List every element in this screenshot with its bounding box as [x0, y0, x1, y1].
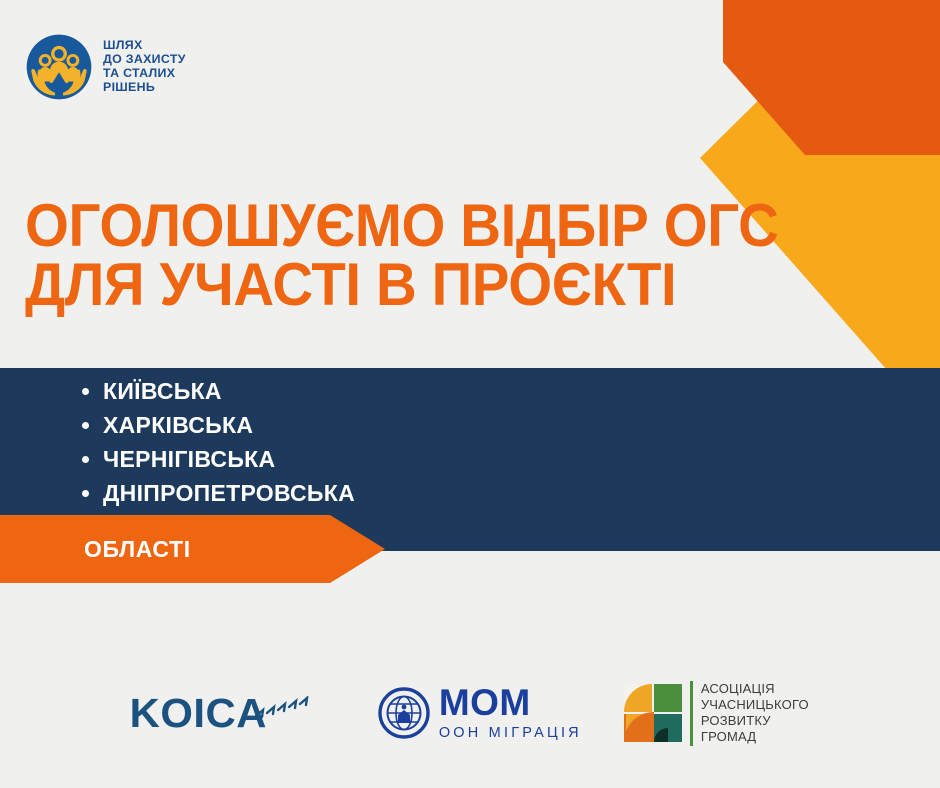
people-in-hands-icon [26, 34, 92, 100]
iom-wordmark: MOM [439, 685, 582, 720]
bullet-icon [82, 490, 89, 497]
association-quadrant-icon [624, 684, 682, 742]
brand-line-1: ШЛЯХ [103, 39, 186, 53]
iom-subtitle: ООН МІГРАЦІЯ [439, 725, 582, 741]
iom-logo: MOM ООН МІГРАЦІЯ [378, 685, 582, 740]
regions-banner-label: ОБЛАСТІ [84, 536, 191, 563]
iom-globe-icon [378, 687, 430, 739]
headline: ОГОЛОШУЄМО ВІДБІР ОГС ДЛЯ УЧАСТІ В ПРОЄК… [25, 196, 915, 315]
orange-parallelogram [723, 0, 940, 155]
regions-banner: ОБЛАСТІ [0, 515, 385, 583]
partner-logos: KOICA [0, 638, 940, 788]
list-item: ДНІПРОПЕТРОВСЬКА [0, 476, 355, 510]
region-label: ДНІПРОПЕТРОВСЬКА [103, 480, 355, 507]
association-line-2: УЧАСНИЦЬКОГО [701, 697, 809, 713]
brand-line-3: ТА СТАЛИХ [103, 67, 186, 81]
association-logo: АСОЦІАЦІЯ УЧАСНИЦЬКОГО РОЗВИТКУ ГРОМАД [624, 681, 809, 746]
region-label: ХАРКІВСЬКА [103, 412, 253, 439]
association-line-4: ГРОМАД [701, 729, 809, 745]
brand-logo: ШЛЯХ ДО ЗАХИСТУ ТА СТАЛИХ РІШЕНЬ [26, 34, 186, 100]
bullet-icon [82, 388, 89, 395]
region-label: ЧЕРНІГІВСЬКА [103, 446, 275, 473]
bullet-icon [82, 422, 89, 429]
koica-birds-icon [250, 696, 320, 730]
koica-logo: KOICA [131, 693, 336, 734]
list-item: КИЇВСЬКА [0, 374, 355, 408]
region-label: КИЇВСЬКА [103, 378, 222, 405]
headline-line-1: ОГОЛОШУЄМО ВІДБІР ОГС [25, 196, 862, 255]
association-line-1: АСОЦІАЦІЯ [701, 681, 809, 697]
association-divider [690, 681, 693, 746]
brand-text: ШЛЯХ ДО ЗАХИСТУ ТА СТАЛИХ РІШЕНЬ [103, 39, 186, 95]
orange-top-band [723, 0, 940, 52]
list-item: ЧЕРНІГІВСЬКА [0, 442, 355, 476]
brand-line-2: ДО ЗАХИСТУ [103, 53, 186, 67]
orange-parallelogram-left [723, 0, 940, 155]
amber-upper-wedge [890, 0, 940, 52]
headline-line-2: ДЛЯ УЧАСТІ В ПРОЄКТІ [25, 255, 862, 314]
association-line-3: РОЗВИТКУ [701, 713, 809, 729]
brand-line-4: РІШЕНЬ [103, 81, 186, 95]
list-item: ХАРКІВСЬКА [0, 408, 355, 442]
poster-canvas: ШЛЯХ ДО ЗАХИСТУ ТА СТАЛИХ РІШЕНЬ ОГОЛОШУ… [0, 0, 940, 788]
regions-list: КИЇВСЬКА ХАРКІВСЬКА ЧЕРНІГІВСЬКА ДНІПРОП… [0, 374, 355, 510]
orange-band-shape [723, 0, 940, 52]
bullet-icon [82, 456, 89, 463]
koica-wordmark: KOICA [130, 693, 267, 734]
association-text: АСОЦІАЦІЯ УЧАСНИЦЬКОГО РОЗВИТКУ ГРОМАД [701, 681, 809, 746]
